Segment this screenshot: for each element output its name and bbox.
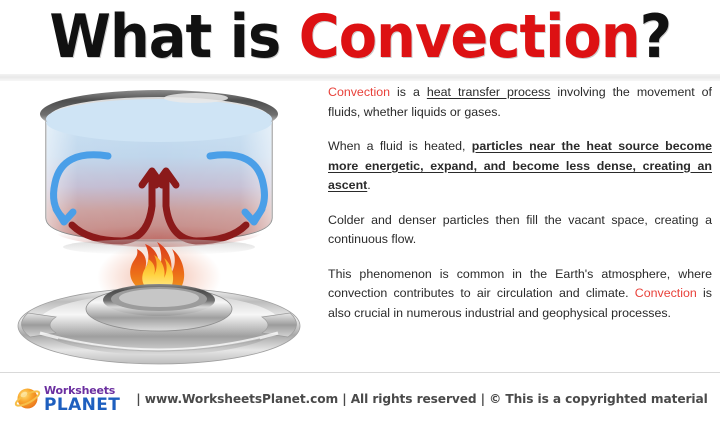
paragraph-2: When a fluid is heated, particles near t… (328, 137, 712, 196)
main-content: Convection is a heat transfer process in… (0, 81, 720, 370)
title-question-mark: ? (639, 2, 670, 72)
logo-wordmark: Worksheets PLANET (44, 385, 120, 413)
burner-head-center (119, 289, 199, 307)
page-title: What is Convection? (49, 7, 671, 67)
paragraph-2-segment-3: . (367, 178, 370, 192)
footer: Worksheets PLANET | www.WorksheetsPlanet… (0, 373, 720, 424)
paragraph-1-segment-1: Convection (328, 85, 390, 99)
infographic-page: What is Convection? (0, 0, 720, 424)
paragraph-1-segment-2: is a (390, 85, 427, 99)
logo-worksheets-text: Worksheets (44, 385, 120, 396)
worksheets-planet-logo[interactable]: Worksheets PLANET (14, 385, 120, 413)
gas-stove-burner-group (18, 284, 300, 364)
description-text-column: Convection is a heat transfer process in… (328, 81, 712, 370)
paragraph-3-segment-1: Colder and denser particles then fill th… (328, 213, 712, 247)
paragraph-2-segment-1: When a fluid is heated, (328, 139, 472, 153)
logo-planet-text: PLANET (44, 397, 120, 413)
beaker-group (40, 90, 278, 247)
convection-diagram-svg (0, 81, 318, 370)
beaker-rim-opening (46, 99, 272, 139)
footer-copyright-text: | www.WorksheetsPlanet.com | All rights … (136, 392, 707, 406)
rim-specular-highlight (164, 93, 228, 103)
paragraph-3: Colder and denser particles then fill th… (328, 211, 712, 250)
title-part-red: Convection (299, 2, 640, 72)
paragraph-4: This phenomenon is common in the Earth's… (328, 265, 712, 324)
convection-illustration (0, 81, 318, 370)
paragraph-4-segment-2: Convection (635, 286, 697, 300)
planet-icon (14, 385, 41, 412)
paragraph-1: Convection is a heat transfer process in… (328, 83, 712, 122)
title-part-black: What is (49, 2, 298, 72)
paragraph-1-segment-3: heat transfer process (427, 85, 551, 99)
header: What is Convection? (0, 0, 720, 74)
header-divider (0, 74, 720, 81)
